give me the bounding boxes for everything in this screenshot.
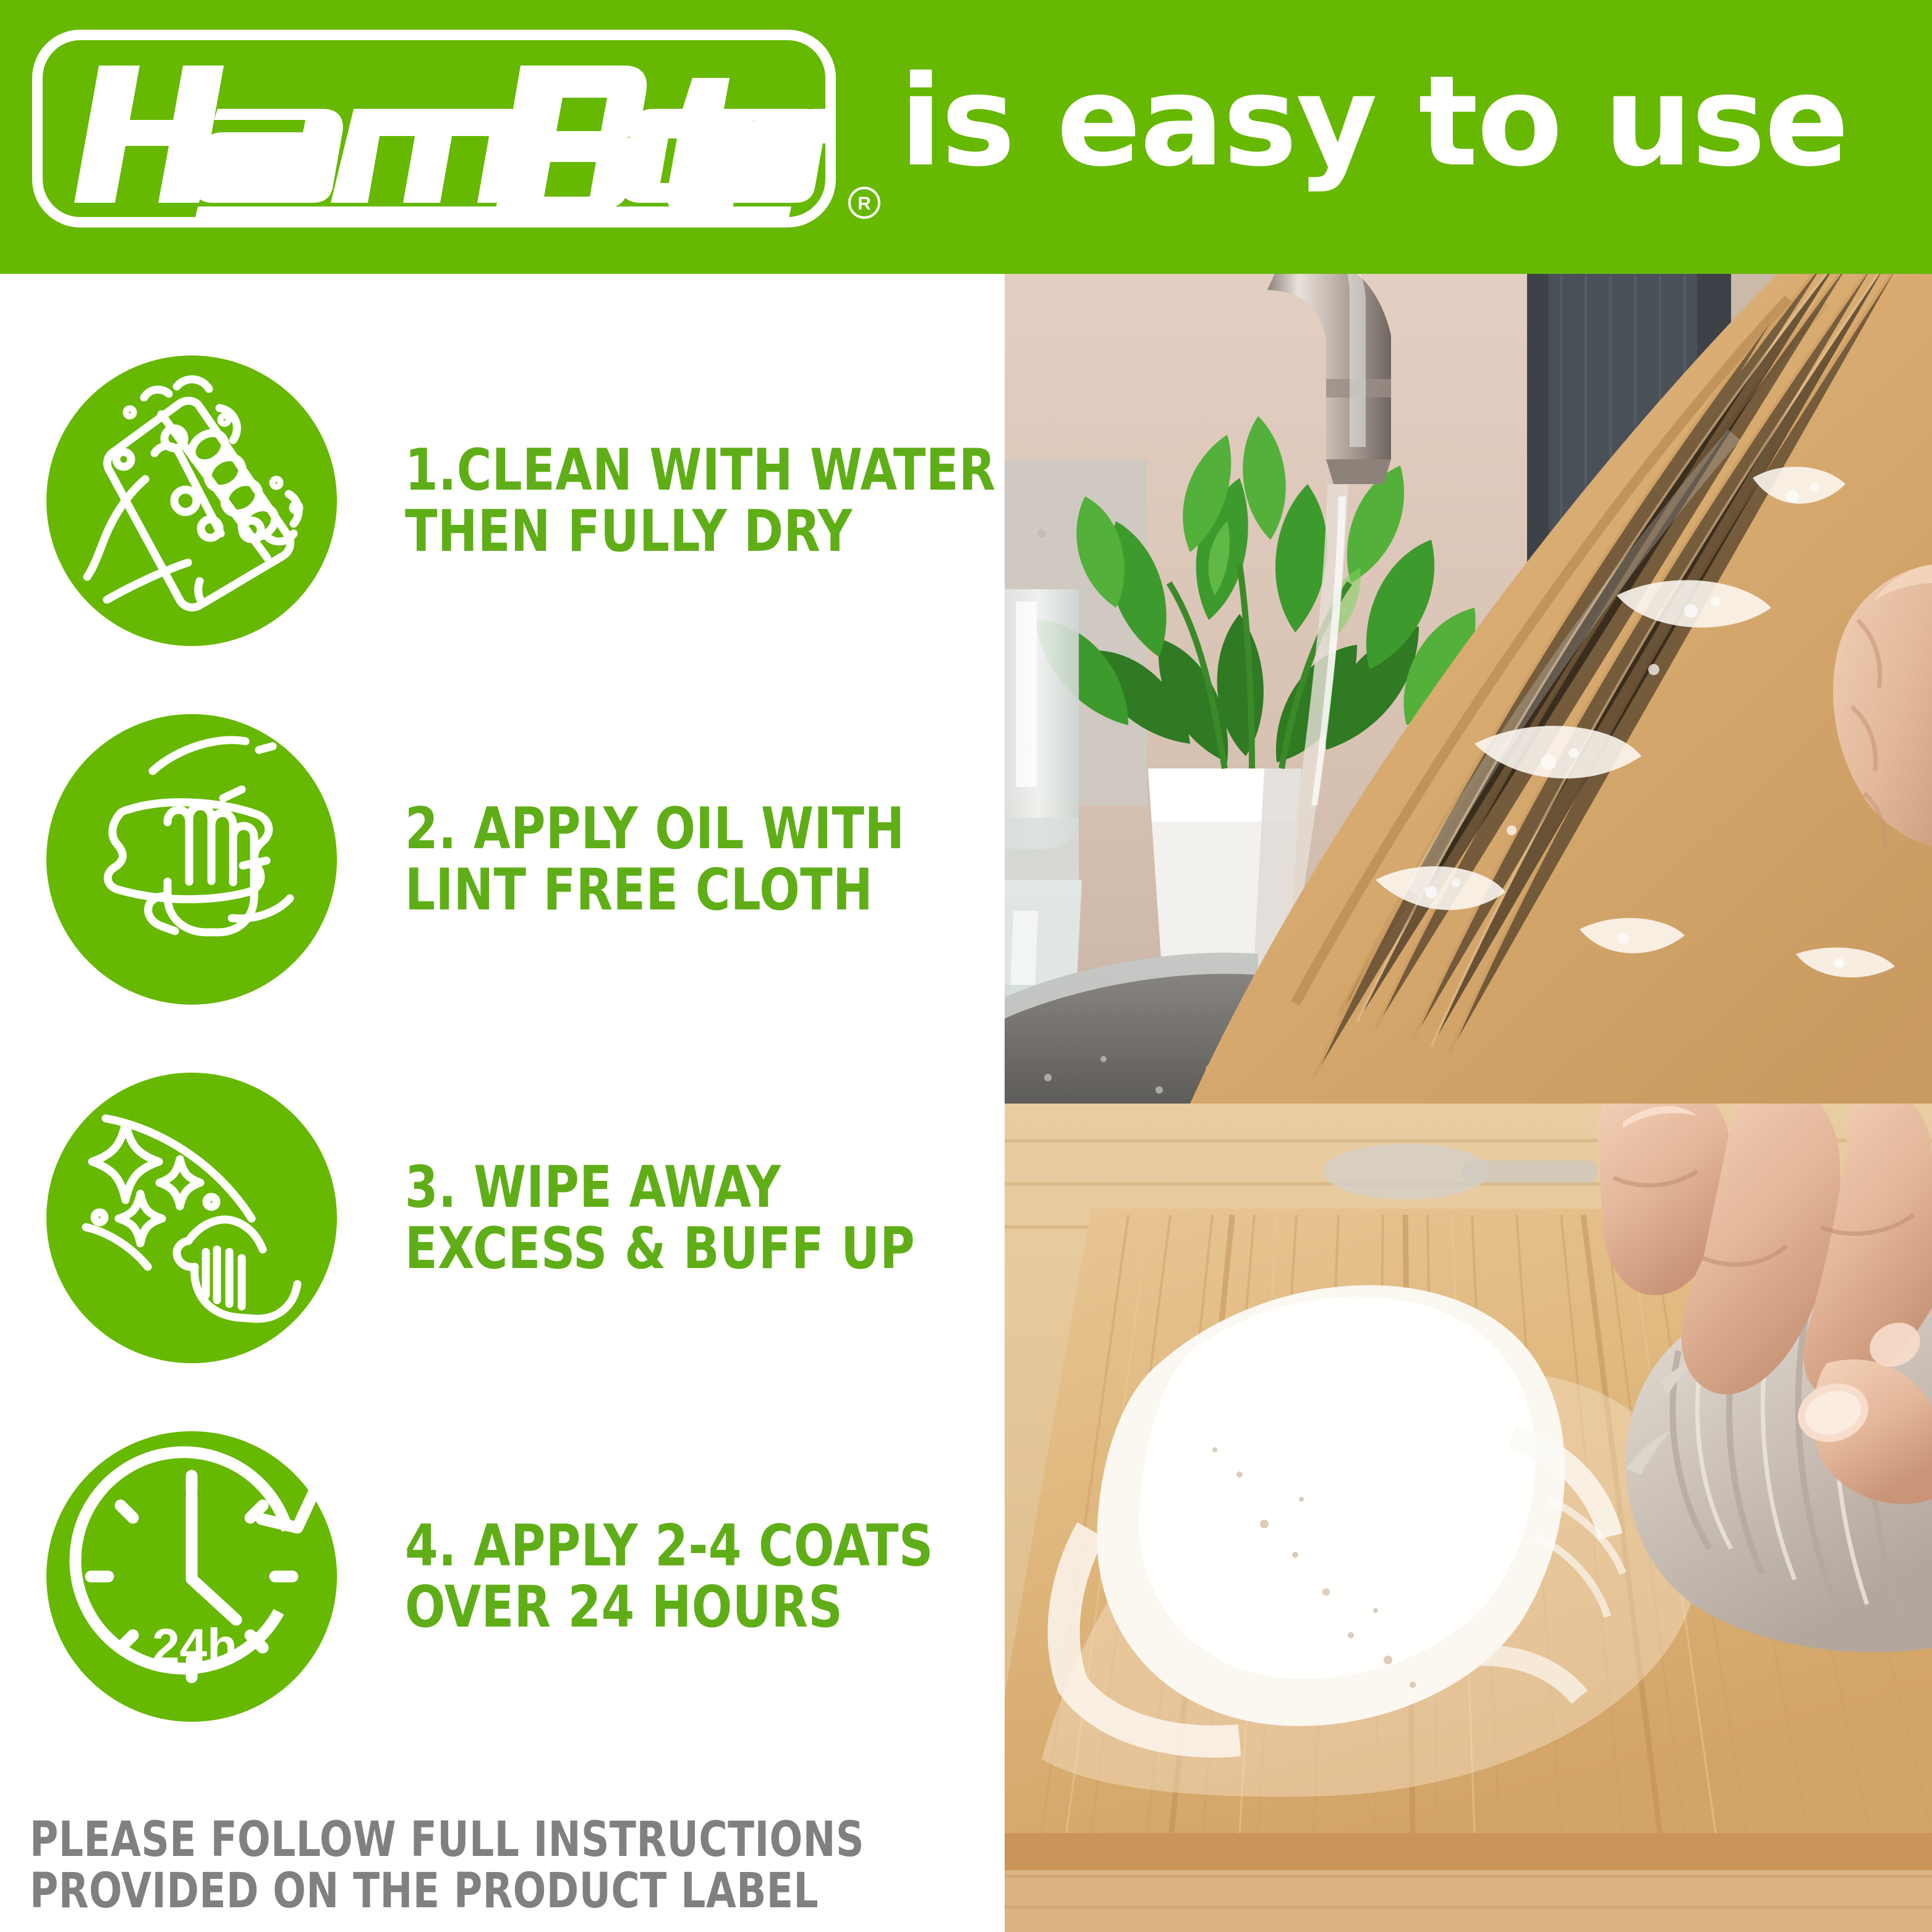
clock-24h-icon: 24h <box>46 1431 337 1722</box>
svg-text:R: R <box>857 194 871 214</box>
step-1-text: 1.CLEAN WITH WATER THEN FULLY DRY <box>405 355 992 646</box>
oiling-cutting-board-photo <box>1005 1104 1932 1932</box>
header-tagline: is easy to use <box>900 28 1848 214</box>
step-4-text: 4. APPLY 2-4 COATS OVER 24 HOURS <box>405 1431 992 1722</box>
footer-line-1: PLEASE FOLLOW FULL INSTRUCTIONS <box>30 1815 864 1866</box>
header-banner: R is easy to use <box>0 0 1932 274</box>
hand-cloth-wipe-icon <box>46 714 337 1005</box>
step-item-2: 2. APPLY OIL WITH LINT FREE CLOTH <box>0 714 1005 1005</box>
step-3-line-2: EXCESS & BUFF UP <box>405 1218 945 1280</box>
step-item-1: 1.CLEAN WITH WATER THEN FULLY DRY <box>0 355 1005 646</box>
footer-line-2: PROVIDED ON THE PRODUCT LABEL <box>30 1866 864 1917</box>
step-3-text: 3. WIPE AWAY EXCESS & BUFF UP <box>405 1073 992 1363</box>
sparkle-hand-buff-icon <box>46 1073 337 1363</box>
step-4-line-2: OVER 24 HOURS <box>405 1577 945 1638</box>
step-2-text: 2. APPLY OIL WITH LINT FREE CLOTH <box>405 714 992 1005</box>
step-item-3: 3. WIPE AWAY EXCESS & BUFF UP <box>0 1073 1005 1363</box>
step-2-line-1: 2. APPLY OIL WITH <box>405 798 945 860</box>
instructions-column: 1.CLEAN WITH WATER THEN FULLY DRY <box>0 274 1005 1932</box>
registered-trademark-icon: R <box>847 185 882 220</box>
hand-sponge-icon <box>46 355 337 646</box>
step-1-line-1: 1.CLEAN WITH WATER <box>405 440 945 501</box>
step-2-line-2: LINT FREE CLOTH <box>405 859 945 921</box>
clock-24h-label: 24h <box>152 1619 237 1674</box>
footer-disclaimer: PLEASE FOLLOW FULL INSTRUCTIONS PROVIDED… <box>30 1815 957 1917</box>
washing-cutting-board-photo <box>1005 274 1932 1104</box>
step-4-line-1: 4. APPLY 2-4 COATS <box>405 1515 945 1577</box>
step-item-4: 24h 4. APPLY 2-4 COATS OVER 24 HOURS <box>0 1431 1005 1722</box>
step-1-line-2: THEN FULLY DRY <box>405 501 945 563</box>
step-3-line-1: 3. WIPE AWAY <box>405 1157 945 1219</box>
photo-column <box>1005 274 1932 1932</box>
brand-logo <box>32 30 836 228</box>
